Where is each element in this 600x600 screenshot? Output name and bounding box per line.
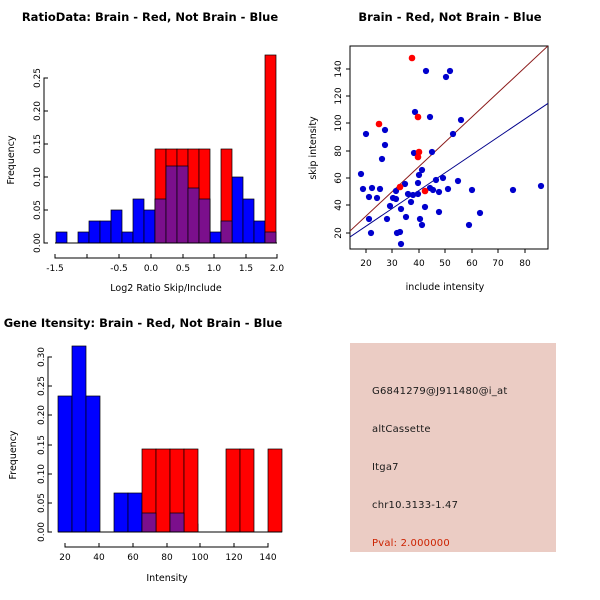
gene-info-panel: G6841279@J911480@i_at altCassette Itga7 … xyxy=(350,343,556,552)
gene-x-tick-6: 140 xyxy=(259,553,276,563)
scatter-y-tick-2: 60 xyxy=(334,172,344,184)
gene-y-tick-6: 0.30 xyxy=(37,347,47,367)
ratio-y-tick-3: 0.15 xyxy=(33,134,43,154)
info-event-type: altCassette xyxy=(372,424,431,435)
gene-y-tick-1: 0.05 xyxy=(37,493,47,513)
gene-x-tick-2: 60 xyxy=(127,553,139,563)
ratio-y-ticks: 0.00 0.05 0.10 0.15 0.20 0.25 xyxy=(33,68,48,253)
ratio-y-tick-5: 0.25 xyxy=(33,68,43,88)
gene-x-axis: 20 40 60 80 100 120 140 xyxy=(59,543,277,563)
gene-x-tick-0: 20 xyxy=(59,553,71,563)
scatter-y-tick-5: 120 xyxy=(334,87,344,104)
scatter-points-not-brain xyxy=(358,68,544,247)
scatter-y-tick-1: 40 xyxy=(334,199,344,211)
info-location: chr10.3133-1.47 xyxy=(372,500,458,511)
ratio-y-tick-1: 0.05 xyxy=(33,200,43,220)
scatter-y-ticks: 20 40 60 80 100 120 140 xyxy=(334,60,350,239)
ratio-x-tick-2: -0.5 xyxy=(110,264,128,274)
gene-intensity-svg: Gene Itensity: Brain - Red, Not Brain - … xyxy=(0,300,300,600)
intensity-scatter-panel: Brain - Red, Not Brain - Blue 20 40 60 8… xyxy=(300,0,600,300)
ratio-y-tick-2: 0.10 xyxy=(33,167,43,187)
ratio-y-tick-0: 0.00 xyxy=(33,233,43,253)
gene-y-tick-5: 0.25 xyxy=(37,376,47,396)
gene-x-tick-1: 40 xyxy=(93,553,105,563)
ratio-x-tick-5: 1.0 xyxy=(207,264,222,274)
scatter-y-axis-label: skip intensity xyxy=(308,116,319,180)
gene-y-tick-2: 0.10 xyxy=(37,464,47,484)
intensity-scatter-svg: Brain - Red, Not Brain - Blue 20 40 60 8… xyxy=(300,0,600,300)
ratio-x-tick-3: 0.0 xyxy=(144,264,159,274)
ratio-x-axis-label: Log2 Ratio Skip/Include xyxy=(110,283,222,294)
ratio-x-tick-7: 2.0 xyxy=(270,264,285,274)
scatter-y-tick-4: 100 xyxy=(334,114,344,131)
scatter-x-tick-6: 80 xyxy=(519,259,531,269)
ratio-histogram-svg: RatioData: Brain - Red, Not Brain - Blue… xyxy=(0,0,300,300)
info-probe-id: G6841279@J911480@i_at xyxy=(372,386,507,397)
scatter-x-tick-3: 50 xyxy=(439,259,451,269)
info-pval: Pval: 2.000000 xyxy=(372,538,450,549)
gene-intensity-panel: Gene Itensity: Brain - Red, Not Brain - … xyxy=(0,300,300,600)
scatter-y-tick-6: 140 xyxy=(334,60,344,77)
scatter-y-tick-3: 80 xyxy=(334,145,344,157)
scatter-x-tick-5: 70 xyxy=(492,259,504,269)
gene-bars-brain xyxy=(142,449,282,532)
gene-y-tick-4: 0.20 xyxy=(37,405,47,425)
gene-x-tick-5: 120 xyxy=(225,553,242,563)
scatter-x-ticks: 20 30 40 50 60 70 80 xyxy=(360,249,531,269)
info-gene-symbol: Itga7 xyxy=(372,462,399,473)
ratio-y-tick-4: 0.20 xyxy=(33,101,43,121)
ratio-x-axis: -1.5 -0.5 0.0 0.5 1.0 1.5 2.0 xyxy=(46,254,284,274)
scatter-x-tick-1: 30 xyxy=(386,259,398,269)
scatter-x-tick-2: 40 xyxy=(413,259,425,269)
info-panel-background xyxy=(350,343,556,552)
ratio-x-tick-0: -1.5 xyxy=(46,264,64,274)
gene-x-tick-4: 100 xyxy=(191,553,208,563)
gene-y-axis-label: Frequency xyxy=(8,430,19,479)
gene-y-tick-3: 0.15 xyxy=(37,435,47,455)
scatter-x-axis-label: include intensity xyxy=(406,282,485,293)
gene-x-axis-label: Intensity xyxy=(146,573,188,584)
ratio-histogram-title: RatioData: Brain - Red, Not Brain - Blue xyxy=(22,10,279,24)
scatter-title: Brain - Red, Not Brain - Blue xyxy=(358,10,541,24)
ratio-y-axis xyxy=(44,78,48,243)
ratio-y-axis-label: Frequency xyxy=(6,135,17,184)
gene-y-tick-0: 0.00 xyxy=(37,522,47,542)
ratio-x-tick-4: 0.5 xyxy=(176,264,190,274)
ratio-histogram-panel: RatioData: Brain - Red, Not Brain - Blue… xyxy=(0,0,300,300)
scatter-x-tick-4: 60 xyxy=(466,259,478,269)
scatter-x-tick-0: 20 xyxy=(360,259,372,269)
gene-x-tick-3: 80 xyxy=(161,553,173,563)
scatter-y-tick-0: 20 xyxy=(334,227,344,239)
ratio-x-tick-6: 1.5 xyxy=(239,264,253,274)
gene-y-ticks: 0.00 0.05 0.10 0.15 0.20 0.25 0.30 xyxy=(37,347,52,542)
gene-histogram-title: Gene Itensity: Brain - Red, Not Brain - … xyxy=(4,316,283,330)
